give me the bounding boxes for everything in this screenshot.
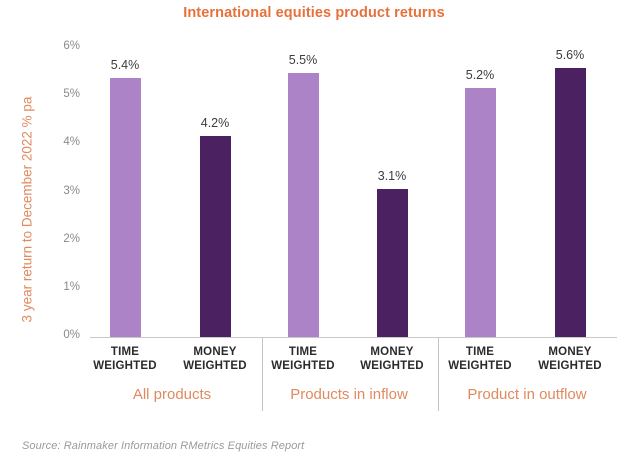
bar-value-label: 3.1% [357, 169, 427, 183]
bar-value-label: 4.2% [180, 116, 250, 130]
bar[interactable] [377, 189, 408, 338]
y-axis-tick-label: 3% [40, 185, 80, 197]
y-axis-tick-label: 6% [40, 40, 80, 52]
bar-value-label: 5.2% [445, 68, 515, 82]
x-axis-group-label: Product in outflow [427, 386, 627, 403]
y-axis-title: 3 year return to December 2022 % pa [20, 60, 35, 360]
x-axis-group-label: All products [72, 386, 272, 403]
series-label-line1: MONEY [548, 346, 591, 358]
x-axis-line [90, 337, 617, 338]
chart-title: International equities product returns [0, 5, 628, 21]
y-axis-tick-label: 1% [40, 281, 80, 293]
y-axis-tick-label: 5% [40, 88, 80, 100]
bar-value-label: 5.5% [268, 53, 338, 67]
bar[interactable] [288, 73, 319, 338]
y-axis-tick-label: 4% [40, 136, 80, 148]
bar-value-label: 5.6% [535, 48, 605, 62]
y-axis-tick-label: 2% [40, 233, 80, 245]
series-label-line1: MONEY [193, 346, 236, 358]
series-label-line1: TIME [111, 346, 139, 358]
chart-container: International equities product returns 3… [0, 0, 628, 463]
x-axis-series-label: MONEYWEIGHTED [515, 345, 625, 373]
series-label-line1: TIME [466, 346, 494, 358]
series-label-line2: WEIGHTED [515, 359, 625, 373]
plot-area: 5.4%4.2%5.5%3.1%5.2%5.6% [90, 48, 617, 338]
bar[interactable] [555, 68, 586, 338]
bar[interactable] [465, 88, 496, 338]
bar-value-label: 5.4% [90, 58, 160, 72]
x-axis-group-label: Products in inflow [249, 386, 449, 403]
series-label-line1: TIME [289, 346, 317, 358]
source-note: Source: Rainmaker Information RMetrics E… [22, 440, 304, 452]
bar[interactable] [200, 136, 231, 338]
series-label-line1: MONEY [370, 346, 413, 358]
y-axis-tick-label: 0% [40, 329, 80, 341]
bar[interactable] [110, 78, 141, 338]
